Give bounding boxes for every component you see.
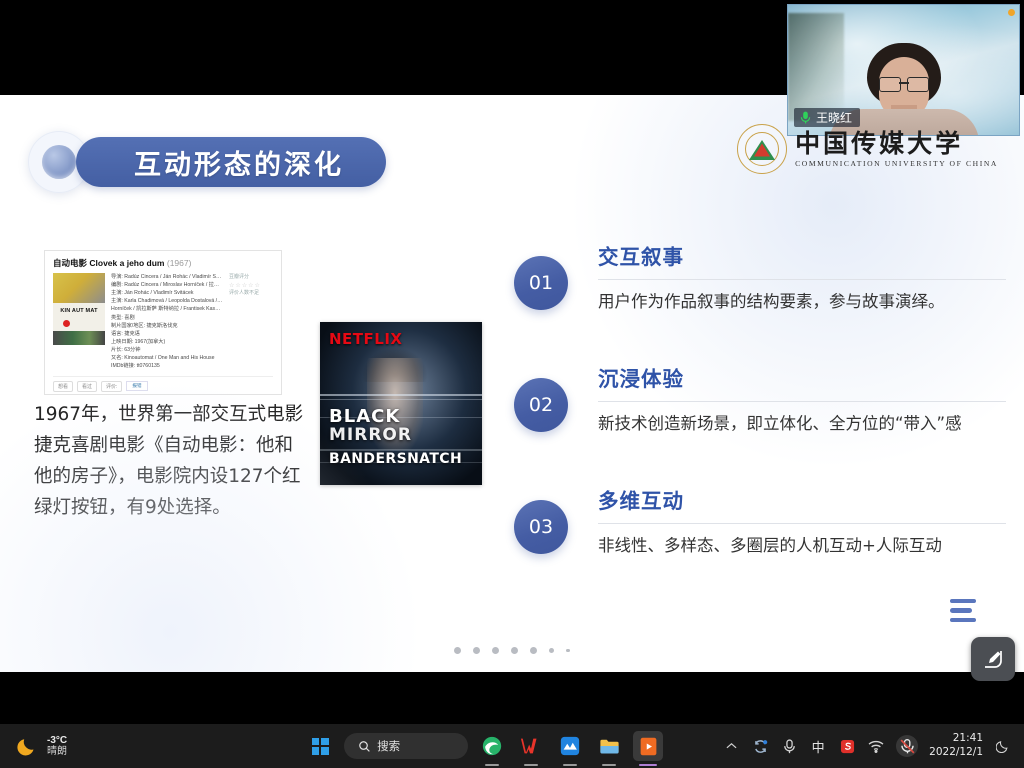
movie-action-tags: 想看 看过 评价: 报错 bbox=[53, 381, 273, 392]
screen-share-view: 互动形态的深化 自动电影 Clovek a jeho dum (1967) KI… bbox=[0, 0, 1024, 768]
step-description: 新技术创造新场景，即立体化、全方位的“带入”感 bbox=[598, 412, 1006, 436]
tag-rate[interactable]: 评价: bbox=[101, 381, 122, 392]
step-description: 非线性、多样态、多圈层的人机互动+人际互动 bbox=[598, 534, 1006, 558]
movie-rating-block: 豆瓣评分 ☆☆☆☆☆ 评价人数不足 bbox=[229, 273, 273, 370]
system-tray[interactable]: 中 21:41 bbox=[722, 732, 1024, 759]
movie-meta-row: Horníček / 凯拉斯萨 斯特纳拉 / Frantisek Kaspari… bbox=[111, 305, 223, 313]
university-logo: 中国传媒大学 COMMUNICATION UNIVERSITY OF CHINA bbox=[737, 124, 998, 174]
windows-start-button[interactable] bbox=[305, 731, 335, 761]
slide-title-group: 互动形态的深化 bbox=[28, 131, 386, 193]
search-icon bbox=[358, 740, 371, 753]
list-item: 02 沉浸体验 新技术创造新场景，即立体化、全方位的“带入”感 bbox=[506, 362, 1006, 484]
university-seal-icon bbox=[737, 124, 787, 174]
presentation-app-icon bbox=[638, 736, 659, 757]
black-mirror-poster-image: NETFLIX BLACK MIRROR BANDERSNATCH bbox=[320, 322, 482, 485]
movie-info-card: 自动电影 Clovek a jeho dum (1967) KIN AUT MA… bbox=[44, 250, 282, 395]
pen-annotate-icon bbox=[981, 647, 1005, 671]
page-title: 互动形态的深化 bbox=[134, 143, 344, 182]
moon-do-not-disturb-icon[interactable] bbox=[994, 737, 1012, 755]
rating-subtext: 评价人数不足 bbox=[229, 289, 273, 298]
step-number-badge: 02 bbox=[514, 378, 568, 432]
step-heading: 多维互动 bbox=[598, 484, 1006, 514]
movie-meta-row: 又名: Kinoautomat / One Man and His House bbox=[111, 354, 223, 362]
movie-meta-row: 制片国家/地区: 捷克斯洛伐克 bbox=[111, 322, 223, 330]
step-heading: 交互叙事 bbox=[598, 240, 1006, 270]
poster-caption: KIN AUT MAT bbox=[53, 303, 105, 319]
divider bbox=[598, 279, 1006, 280]
movie-meta-row: 主演: Ján Rohác / Vladimír Svitácek bbox=[111, 289, 223, 297]
step-number-badge: 03 bbox=[514, 500, 568, 554]
search-input[interactable]: 搜索 bbox=[344, 733, 468, 759]
pagination-dot[interactable] bbox=[549, 648, 554, 653]
folder-icon bbox=[598, 735, 621, 758]
movie-meta-row: 编剧: Radúz Cincera / Miroslav Horníček / … bbox=[111, 281, 223, 289]
taskbar-app-edge-browser[interactable] bbox=[477, 731, 507, 761]
slide-title-pill: 互动形态的深化 bbox=[76, 137, 386, 187]
windows-taskbar[interactable]: -3°C 晴朗 搜索 bbox=[0, 724, 1024, 768]
pagination-dot[interactable] bbox=[511, 647, 518, 654]
list-item: 01 交互叙事 用户作为作品叙事的结构要素，参与故事演绎。 bbox=[506, 240, 1006, 362]
app-running-indicator bbox=[524, 764, 538, 767]
app-running-indicator bbox=[485, 764, 499, 767]
show-hidden-icons-chevron-icon[interactable] bbox=[722, 737, 740, 755]
divider bbox=[598, 523, 1006, 524]
rating-stars: ☆☆☆☆☆ bbox=[229, 282, 273, 289]
hamburger-menu-icon[interactable] bbox=[950, 599, 976, 628]
moon-icon bbox=[16, 734, 40, 758]
movie-title-cn: 自动电影 bbox=[53, 258, 87, 268]
movie-meta-row: 导演: Radúz Cincera / Ján Rohác / Vladimír… bbox=[111, 273, 223, 281]
poster-title-line-3: BANDERSNATCH bbox=[329, 451, 462, 467]
pagination-dot[interactable] bbox=[492, 647, 499, 654]
taskbar-app-blue-app[interactable] bbox=[555, 731, 585, 761]
movie-poster-thumb: KIN AUT MAT bbox=[53, 273, 105, 345]
movie-meta-row: IMDb链接: tt0760135 bbox=[111, 362, 223, 370]
university-name-en: COMMUNICATION UNIVERSITY OF CHINA bbox=[795, 160, 998, 168]
tag-watched[interactable]: 看过 bbox=[77, 381, 97, 392]
ime-chinese-icon[interactable]: 中 bbox=[809, 737, 827, 755]
sogou-logo bbox=[840, 739, 855, 754]
movie-meta-row: 上映日期: 1967(加拿大) bbox=[111, 338, 223, 346]
sync-icon[interactable] bbox=[751, 737, 769, 755]
edge-browser-icon bbox=[481, 735, 503, 757]
windows-start-icon bbox=[312, 738, 329, 755]
microphone-icon bbox=[800, 111, 811, 124]
sogou-input-icon[interactable] bbox=[838, 737, 856, 755]
report-error-button[interactable]: 报错 bbox=[126, 381, 147, 391]
list-item: 03 多维互动 非线性、多样态、多圈层的人机互动+人际互动 bbox=[506, 484, 1006, 606]
pagination-dot[interactable] bbox=[566, 649, 570, 653]
poster-title-line-2: MIRROR bbox=[329, 425, 412, 445]
app-running-indicator bbox=[563, 764, 577, 767]
taskbar-app-file-explorer[interactable] bbox=[594, 731, 624, 761]
pagination-dot[interactable] bbox=[454, 647, 461, 654]
movie-title-original: Clovek a jeho dum bbox=[89, 258, 164, 268]
clock-time: 21:41 bbox=[929, 732, 983, 746]
presentation-slide[interactable]: 互动形态的深化 自动电影 Clovek a jeho dum (1967) KI… bbox=[0, 95, 1024, 672]
glasses-icon bbox=[879, 77, 929, 90]
poster-title-line-1: BLACK bbox=[329, 406, 400, 427]
university-name-cn: 中国传媒大学 bbox=[795, 131, 998, 156]
movie-meta-row: 片长: 63分钟 bbox=[111, 346, 223, 354]
wps-office-icon bbox=[520, 735, 542, 757]
movie-year: (1967) bbox=[167, 258, 192, 268]
netflix-logo: NETFLIX bbox=[329, 330, 402, 348]
divider bbox=[598, 401, 1006, 402]
speaker-avatar-video bbox=[850, 43, 958, 136]
microphone-icon[interactable] bbox=[780, 737, 798, 755]
rating-label: 豆瓣评分 bbox=[229, 273, 273, 282]
weather-condition: 晴朗 bbox=[47, 746, 67, 758]
step-heading: 沉浸体验 bbox=[598, 362, 1006, 392]
pagination-dot[interactable] bbox=[530, 647, 537, 654]
movie-meta-row: 类型: 喜剧 bbox=[111, 314, 223, 322]
taskbar-app-wps-presentation[interactable] bbox=[633, 731, 663, 761]
movie-meta-row: 主演: Karla Chadimová / Leopolda Dostalová… bbox=[111, 297, 223, 305]
weather-temperature: -3°C bbox=[47, 735, 67, 747]
key-points-list: 01 交互叙事 用户作为作品叙事的结构要素，参与故事演绎。 02 沉浸体验 新技… bbox=[506, 240, 1006, 606]
search-placeholder: 搜索 bbox=[377, 738, 400, 754]
step-description: 用户作为作品叙事的结构要素，参与故事演绎。 bbox=[598, 290, 1006, 314]
slide-body-paragraph: 1967年，世界第一部交互式电影捷克喜剧电影《自动电影：他和他的房子》，电影院内… bbox=[34, 400, 304, 524]
blue-mountain-app-icon bbox=[559, 735, 581, 757]
speaker-video-tile[interactable]: 王晓红 bbox=[787, 4, 1020, 136]
taskbar-app-wps-office[interactable] bbox=[516, 731, 546, 761]
pen-annotate-button[interactable] bbox=[971, 637, 1015, 681]
app-running-indicator bbox=[602, 764, 616, 767]
taskbar-clock[interactable]: 21:41 2022/12/1 bbox=[929, 732, 983, 759]
recording-indicator-dot bbox=[1008, 9, 1015, 16]
app-running-indicator bbox=[639, 764, 657, 767]
weather-widget[interactable]: -3°C 晴朗 bbox=[0, 734, 246, 758]
clock-date: 2022/12/1 bbox=[929, 746, 983, 760]
pagination-dot[interactable] bbox=[473, 647, 480, 654]
movie-meta-list: 导演: Radúz Cincera / Ján Rohác / Vladimír… bbox=[111, 273, 223, 370]
movie-card-title: 自动电影 Clovek a jeho dum (1967) bbox=[53, 258, 273, 268]
movie-meta-row: 语言: 捷克语 bbox=[111, 330, 223, 338]
wifi-icon[interactable] bbox=[867, 737, 885, 755]
step-number-badge: 01 bbox=[514, 256, 568, 310]
mic-muted-icon[interactable] bbox=[896, 735, 918, 757]
tag-want-to-watch[interactable]: 想看 bbox=[53, 381, 73, 392]
pagination-dots[interactable] bbox=[0, 647, 1024, 654]
